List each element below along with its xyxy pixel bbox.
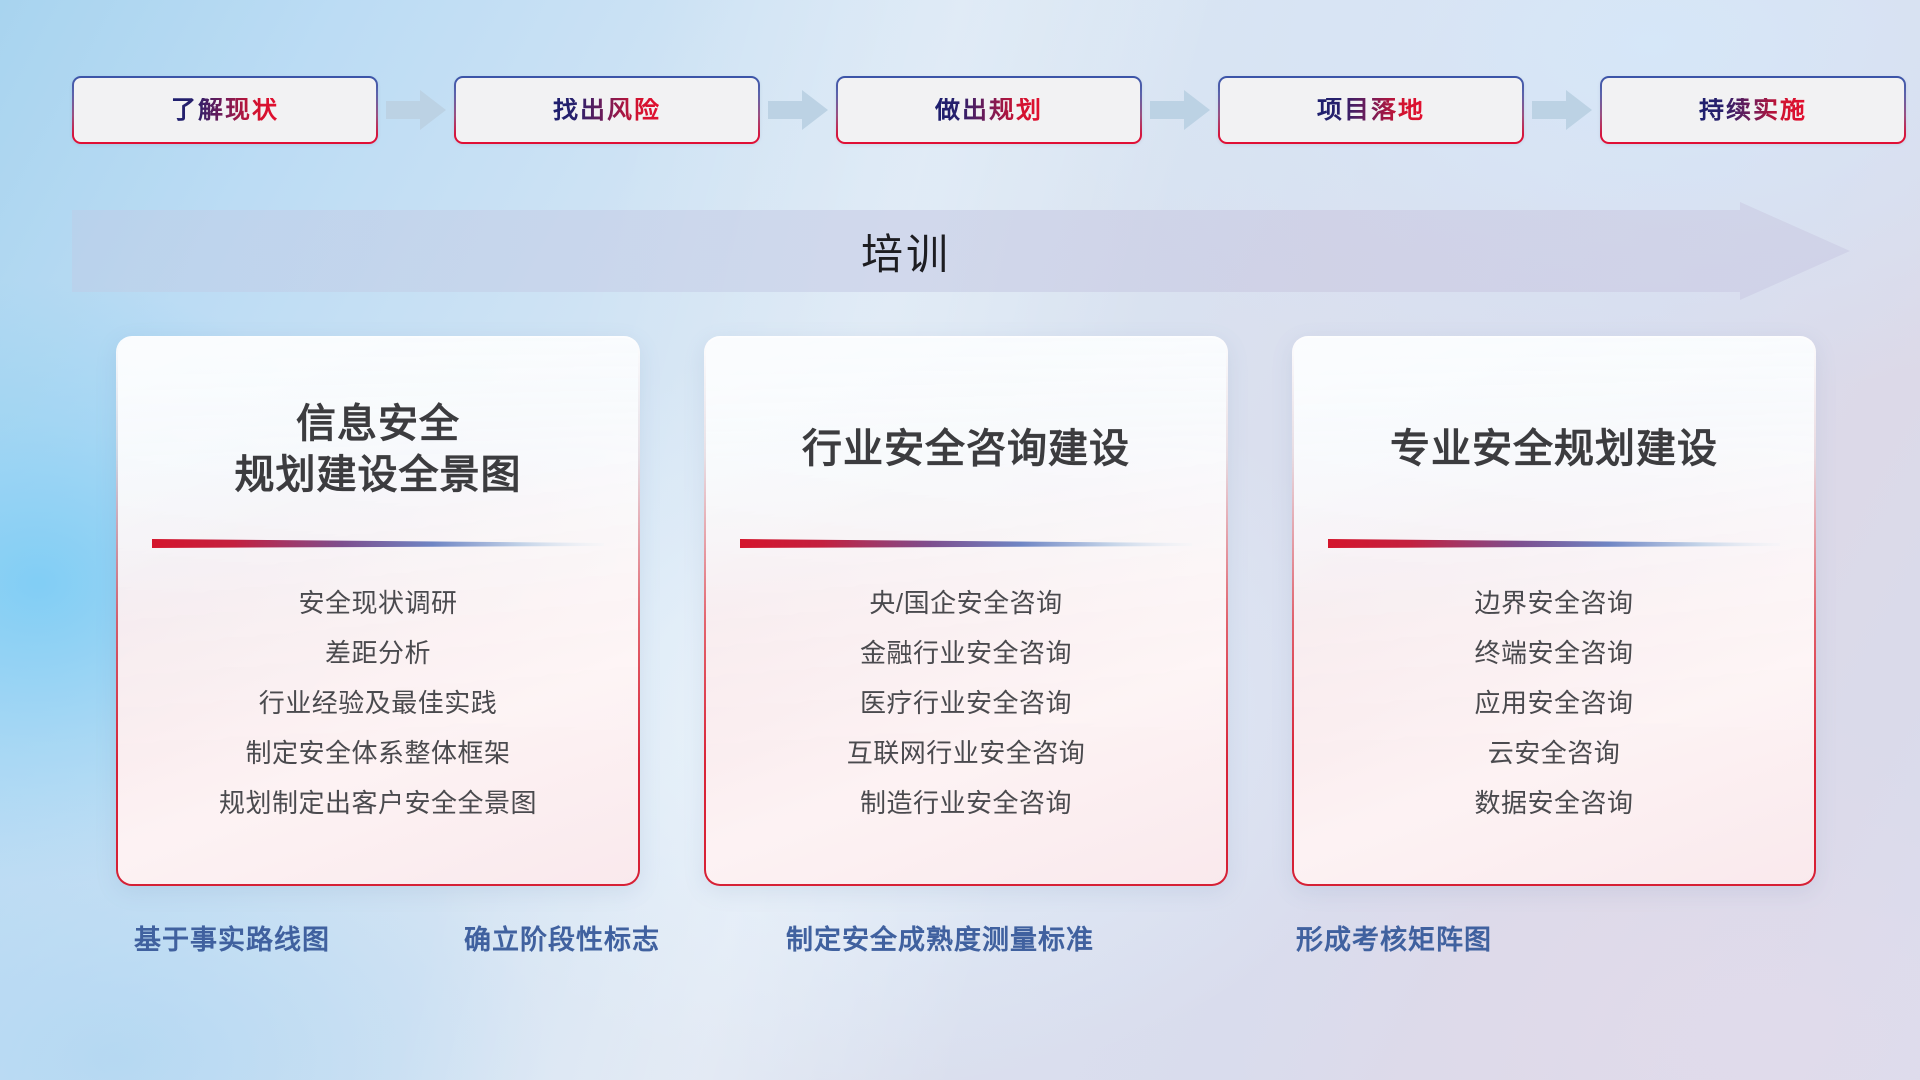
- list-item: 差距分析: [118, 628, 638, 678]
- card-1-title: 信息安全 规划建设全景图: [235, 399, 522, 501]
- step-label-1: 了解现状: [171, 98, 279, 123]
- arrow-right-icon: [768, 90, 828, 130]
- card-1[interactable]: 信息安全 规划建设全景图 安全现状调: [116, 336, 640, 886]
- card-2-divider: [740, 536, 1192, 548]
- step-box-4[interactable]: 项目落地: [1218, 76, 1524, 144]
- step-box-3[interactable]: 做出规划: [836, 76, 1142, 144]
- step-box-1[interactable]: 了解现状: [72, 76, 378, 144]
- footnote-row: 基于事实路线图 确立阶段性标志 制定安全成熟度测量标准 形成考核矩阵图: [0, 918, 1920, 962]
- list-item: 央/国企安全咨询: [706, 578, 1226, 628]
- step-box-5[interactable]: 持续实施: [1600, 76, 1906, 144]
- card-3-title-line-1: 专业安全规划建设: [1390, 424, 1718, 475]
- list-item: 终端安全咨询: [1294, 628, 1814, 678]
- card-2-title: 行业安全咨询建设: [802, 424, 1130, 475]
- step-label-3: 做出规划: [935, 98, 1043, 123]
- list-item: 制造行业安全咨询: [706, 778, 1226, 828]
- list-item: 制定安全体系整体框架: [118, 728, 638, 778]
- card-1-list: 安全现状调研 差距分析 行业经验及最佳实践 制定安全体系整体框架 规划制定出客户…: [118, 578, 638, 862]
- card-3-divider: [1328, 536, 1780, 548]
- list-item: 云安全咨询: [1294, 728, 1814, 778]
- card-3-list: 边界安全咨询 终端安全咨询 应用安全咨询 云安全咨询 数据安全咨询: [1294, 578, 1814, 862]
- footnote-4: 形成考核矩阵图: [1296, 918, 1492, 957]
- list-item: 互联网行业安全咨询: [706, 728, 1226, 778]
- list-item: 边界安全咨询: [1294, 578, 1814, 628]
- card-2-list: 央/国企安全咨询 金融行业安全咨询 医疗行业安全咨询 互联网行业安全咨询 制造行…: [706, 578, 1226, 862]
- list-item: 数据安全咨询: [1294, 778, 1814, 828]
- card-row: 信息安全 规划建设全景图 安全现状调: [116, 336, 1816, 886]
- card-3[interactable]: 专业安全规划建设 边界安全咨询 终端安全: [1292, 336, 1816, 886]
- step-label-5: 持续实施: [1699, 98, 1807, 123]
- card-1-title-line-2: 规划建设全景图: [235, 450, 522, 501]
- arrow-right-icon: [1150, 90, 1210, 130]
- list-item: 应用安全咨询: [1294, 678, 1814, 728]
- list-item: 金融行业安全咨询: [706, 628, 1226, 678]
- banner-title: 培训: [72, 202, 1850, 300]
- list-item: 医疗行业安全咨询: [706, 678, 1226, 728]
- training-banner: 培训: [72, 202, 1850, 300]
- footnote-3: 制定安全成熟度测量标准: [786, 918, 1094, 957]
- card-2-title-wrap: 行业安全咨询建设: [802, 338, 1130, 514]
- footnote-2: 确立阶段性标志: [464, 918, 660, 957]
- card-2[interactable]: 行业安全咨询建设 央/国企安全咨询 金融: [704, 336, 1228, 886]
- card-3-title: 专业安全规划建设: [1390, 424, 1718, 475]
- list-item: 安全现状调研: [118, 578, 638, 628]
- step-box-2[interactable]: 找出风险: [454, 76, 760, 144]
- arrow-right-icon: [1532, 90, 1592, 130]
- list-item: 规划制定出客户安全全景图: [118, 778, 638, 828]
- step-label-4: 项目落地: [1317, 98, 1425, 123]
- list-item: 行业经验及最佳实践: [118, 678, 638, 728]
- footnote-1: 基于事实路线图: [134, 918, 330, 957]
- card-2-title-line-1: 行业安全咨询建设: [802, 424, 1130, 475]
- card-3-title-wrap: 专业安全规划建设: [1390, 338, 1718, 514]
- card-1-divider: [152, 536, 604, 548]
- step-label-2: 找出风险: [553, 98, 661, 123]
- process-step-bar: 了解现状 找出风险 做出规划 项目落地 持续实施: [72, 76, 1848, 144]
- arrow-right-icon: [386, 90, 446, 130]
- card-1-title-line-1: 信息安全: [235, 399, 522, 450]
- card-1-title-wrap: 信息安全 规划建设全景图: [235, 338, 522, 514]
